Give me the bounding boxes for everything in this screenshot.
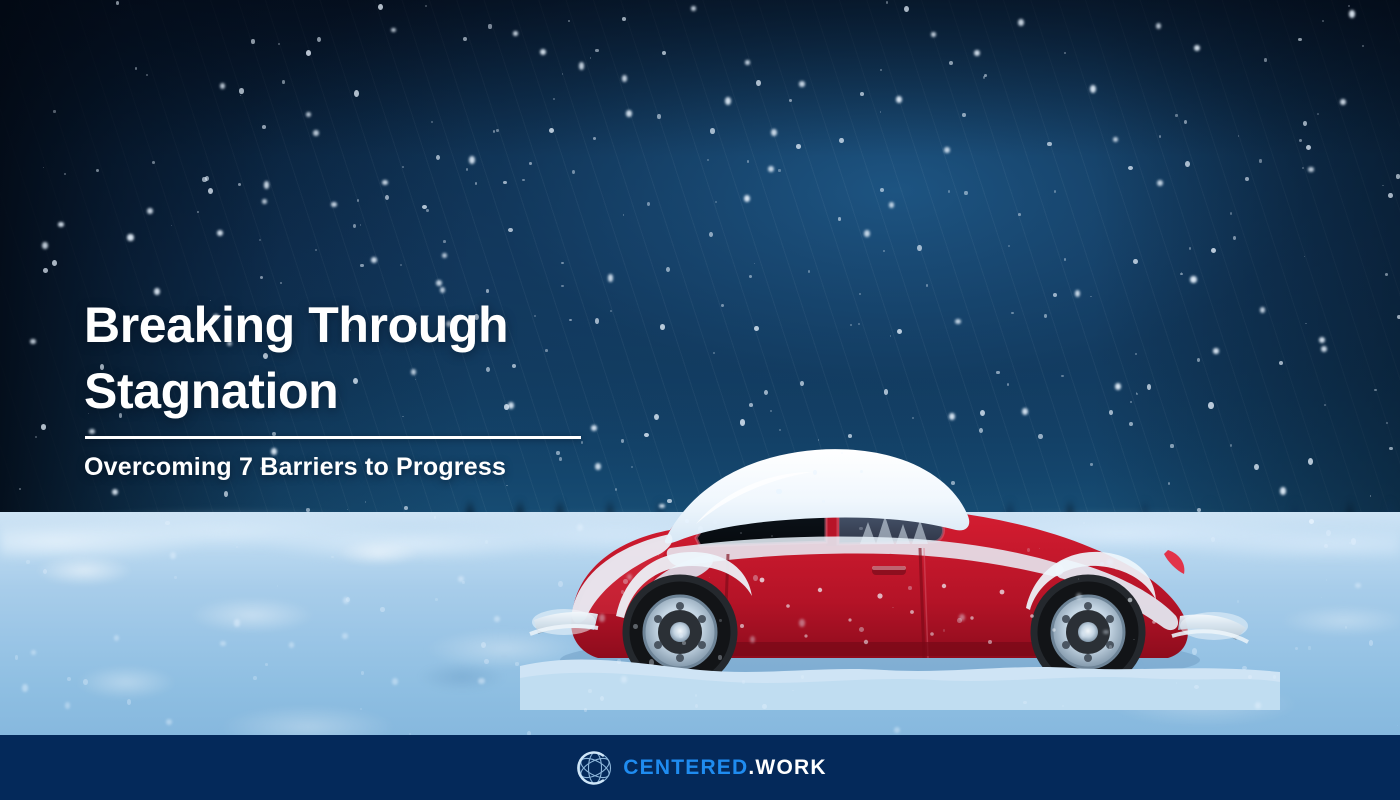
page-title: Breaking Through Stagnation (84, 292, 704, 424)
blog-header-banner: Breaking Through Stagnation Overcoming 7… (0, 0, 1400, 800)
brand-logo-text: CENTERED.WORK (623, 757, 826, 778)
title-divider (85, 436, 581, 439)
footer-bar: CENTERED.WORK (0, 735, 1400, 800)
globe-sphere-c-icon (573, 746, 617, 790)
brand-logo[interactable]: CENTERED.WORK (573, 746, 826, 790)
brand-name-primary: CENTERED (623, 756, 748, 779)
brand-name-secondary: .WORK (748, 756, 826, 779)
page-subtitle: Overcoming 7 Barriers to Progress (84, 453, 704, 482)
headline-block: Breaking Through Stagnation Overcoming 7… (84, 292, 704, 482)
